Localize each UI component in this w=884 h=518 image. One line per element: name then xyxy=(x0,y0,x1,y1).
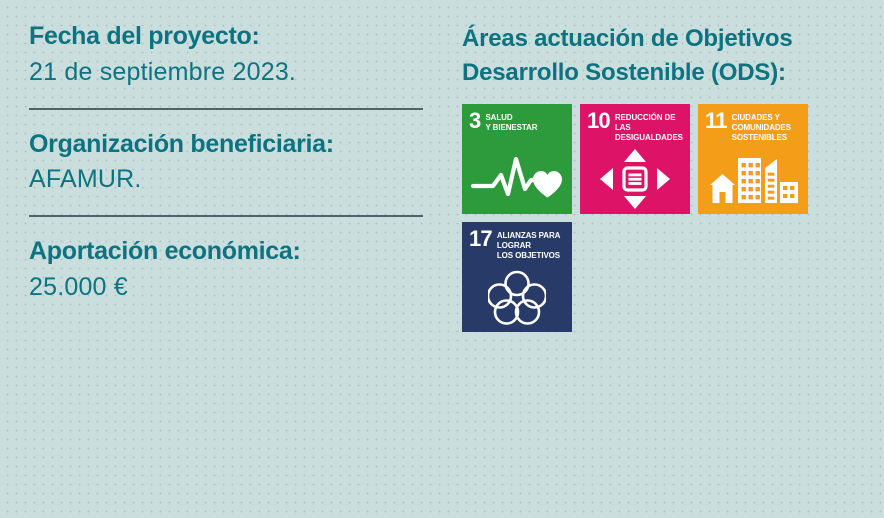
beneficiary-org-label: Organización beneficiaria: xyxy=(29,130,429,160)
project-date-label: Fecha del proyecto: xyxy=(29,22,429,52)
sdg-tile-17[interactable]: 17 ALIANZAS PARA LOGRAR LOS OBJETIVOS xyxy=(462,222,572,332)
sdg-tile-11-number: 11 xyxy=(705,111,727,131)
sdg-tile-11[interactable]: 11 CIUDADES Y COMUNIDADES SOSTENIBLES xyxy=(698,104,808,214)
project-date-value: 21 de septiembre 2023. xyxy=(29,57,429,87)
sdg-tile-17-title: ALIANZAS PARA LOGRAR LOS OBJETIVOS xyxy=(497,229,560,260)
sdg-tile-17-header: 17 ALIANZAS PARA LOGRAR LOS OBJETIVOS xyxy=(462,222,572,260)
heartbeat-heart-icon xyxy=(462,150,572,208)
equals-four-arrows-icon xyxy=(580,150,690,208)
sdg-tile-10[interactable]: 10 REDUCCIÓN DE LAS DESIGUALDADES xyxy=(580,104,690,214)
sdg-tile-11-header: 11 CIUDADES Y COMUNIDADES SOSTENIBLES xyxy=(698,104,808,142)
city-buildings-icon xyxy=(698,150,808,208)
beneficiary-org-value: AFAMUR. xyxy=(29,164,429,194)
project-details-column: Fecha del proyecto: 21 de septiembre 202… xyxy=(29,22,429,302)
five-interlocking-circles-icon xyxy=(462,268,572,326)
sdg-tile-3-header: 3 SALUD Y BIENESTAR xyxy=(462,104,572,133)
financial-contribution-value: 25.000 € xyxy=(29,272,429,302)
sdg-tile-10-number: 10 xyxy=(587,111,610,131)
sdg-column: Áreas actuación de Objetivos Desarrollo … xyxy=(462,22,862,332)
financial-contribution-label: Aportación económica: xyxy=(29,237,429,267)
project-info-card: Fecha del proyecto: 21 de septiembre 202… xyxy=(0,0,884,518)
sdg-tile-3-number: 3 xyxy=(469,111,480,131)
sdg-grid: 3 SALUD Y BIENESTAR 10 REDUCCIÓN DE LAS … xyxy=(462,104,816,332)
sdg-heading: Áreas actuación de Objetivos Desarrollo … xyxy=(462,22,834,89)
sdg-tile-3[interactable]: 3 SALUD Y BIENESTAR xyxy=(462,104,572,214)
divider-1 xyxy=(29,108,423,110)
sdg-tile-17-number: 17 xyxy=(469,229,492,249)
beneficiary-org-field: Organización beneficiaria: AFAMUR. xyxy=(29,130,429,195)
project-date-field: Fecha del proyecto: 21 de septiembre 202… xyxy=(29,22,429,87)
divider-2 xyxy=(29,215,423,217)
sdg-tile-10-title: REDUCCIÓN DE LAS DESIGUALDADES xyxy=(615,111,684,142)
sdg-tile-11-title: CIUDADES Y COMUNIDADES SOSTENIBLES xyxy=(732,111,791,142)
financial-contribution-field: Aportación económica: 25.000 € xyxy=(29,237,429,302)
sdg-tile-10-header: 10 REDUCCIÓN DE LAS DESIGUALDADES xyxy=(580,104,690,142)
sdg-tile-3-title: SALUD Y BIENESTAR xyxy=(485,111,537,133)
